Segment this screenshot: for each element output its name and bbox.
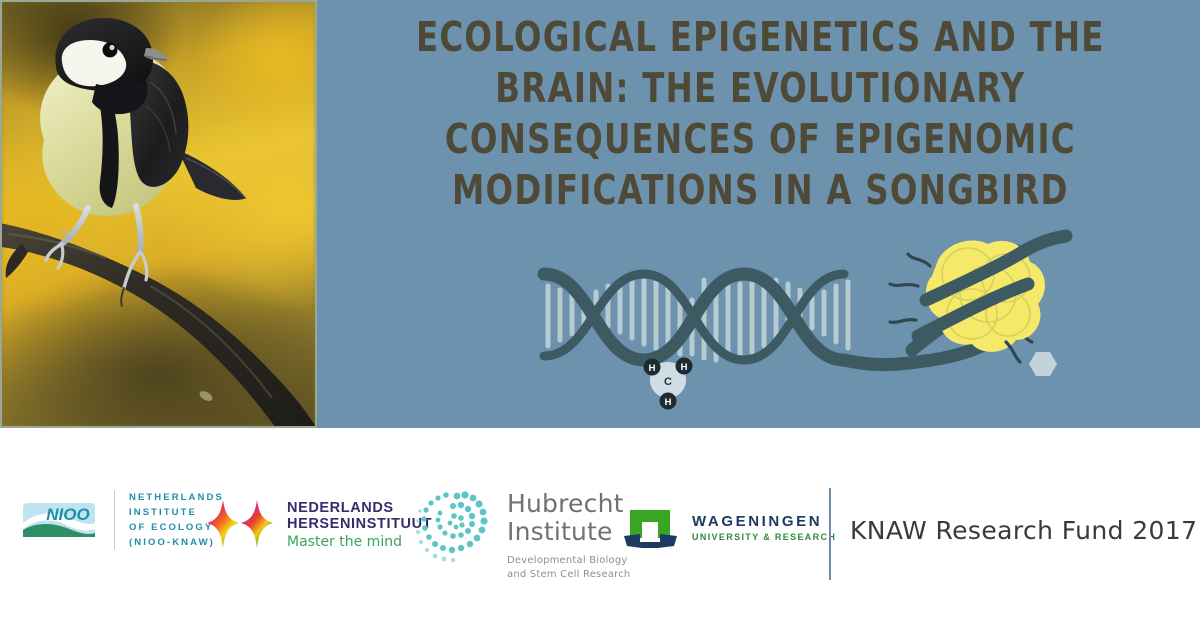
methyl-hydrogen-label-3: H [665, 397, 672, 408]
bird-leg-right [136, 206, 141, 252]
methyl-hydrogen-label-2: H [681, 362, 688, 373]
branch [0, 222, 317, 428]
logo-nioo[interactable]: NIOO NETHERLANDS INSTITUTE OF ECOLOGY (N… [22, 490, 224, 550]
herseninstituut-line2: HERSENINSTITUUT [287, 516, 432, 532]
hubrecht-label-group: Hubrecht Institute Developmental Biology… [507, 490, 630, 582]
logo-bar: NIOO NETHERLANDS INSTITUTE OF ECOLOGY (N… [0, 428, 1200, 628]
bird-eye [103, 43, 118, 58]
logo-hubrecht[interactable]: Hubrecht Institute Developmental Biology… [413, 480, 630, 582]
wageningen-label-group: WAGENINGEN UNIVERSITY & RESEARCH [692, 513, 836, 543]
hero-section: Ecological epigenetics and the brain: th… [0, 0, 1200, 428]
herseninstituut-label-group: NEDERLANDS HERSENINSTITUUT Master the mi… [287, 500, 432, 551]
logo-wageningen[interactable]: WAGENINGEN UNIVERSITY & RESEARCH [622, 506, 836, 550]
bird-photo [0, 0, 317, 428]
bird-leg-left [62, 208, 88, 244]
funder-divider [829, 488, 831, 580]
herseninstituut-sparkle-icon [205, 498, 277, 552]
funder-label: KNAW Research Fund 2017 [850, 516, 1197, 546]
wageningen-line1: WAGENINGEN [692, 513, 836, 530]
nioo-mark-icon: NIOO [22, 499, 102, 541]
logo-herseninstituut[interactable]: NEDERLANDS HERSENINSTITUUT Master the mi… [205, 498, 432, 552]
page-title: Ecological epigenetics and the brain: th… [416, 8, 1105, 216]
methyl-carbon-label: C [664, 376, 672, 388]
methyl-hydrogen-label-1: H [649, 363, 656, 374]
herseninstituut-tagline: Master the mind [287, 533, 432, 551]
herseninstituut-line1: NEDERLANDS [287, 500, 432, 516]
wageningen-line2: UNIVERSITY & RESEARCH [692, 531, 836, 543]
hubrecht-spiral-icon [413, 480, 499, 572]
methyl-group: C H H H [644, 358, 693, 410]
hubrecht-subtitle: Developmental Biology and Stem Cell Rese… [507, 554, 630, 582]
wageningen-mark-icon [622, 506, 682, 550]
hexagon-marker [1006, 342, 1057, 376]
hubrecht-title: Hubrecht Institute [507, 490, 630, 546]
dna-nucleosome-illustration: C H H H [520, 228, 1080, 418]
nioo-wordmark: NIOO [46, 505, 89, 524]
bird-illustration [0, 0, 317, 428]
banner-root: Ecological epigenetics and the brain: th… [0, 0, 1200, 628]
title-block: Ecological epigenetics and the brain: th… [330, 8, 1190, 228]
